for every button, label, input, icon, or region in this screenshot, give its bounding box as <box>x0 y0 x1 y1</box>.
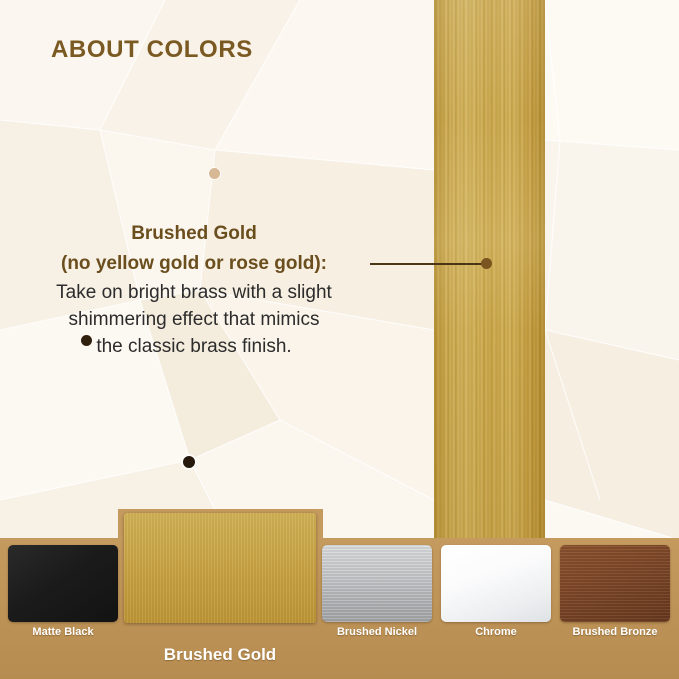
swatch-brushed-bronze[interactable] <box>560 545 670 622</box>
gold-column-sheen <box>434 0 545 538</box>
callout-heading-line-2: (no yellow gold or rose gold): <box>24 249 364 279</box>
callout-body-line-2: shimmering effect that mimics <box>24 307 364 334</box>
swatch-label-matte-black: Matte Black <box>8 626 118 638</box>
swatch-label-brushed-nickel: Brushed Nickel <box>314 626 440 638</box>
callout-heading-line-1: Brushed Gold <box>24 219 364 249</box>
about-colors-infographic: ABOUT COLORS Brushed Gold (no yellow gol… <box>0 0 679 679</box>
page-title: ABOUT COLORS <box>51 36 253 64</box>
callout-leader-dot <box>481 258 492 269</box>
callout-body-line-3: the classic brass finish. <box>24 334 364 361</box>
decorative-dot-dark-upper <box>81 335 92 346</box>
callout-leader-line <box>370 263 487 265</box>
callout-body-line-1: Take on bright brass with a slight <box>24 280 364 307</box>
swatch-brushed-nickel[interactable] <box>322 545 432 622</box>
brushed-gold-column-image <box>434 0 545 538</box>
swatch-label-brushed-bronze: Brushed Bronze <box>552 626 678 638</box>
decorative-dot-dark-lower <box>183 456 195 468</box>
callout-text-block: Brushed Gold (no yellow gold or rose gol… <box>24 219 364 361</box>
swatch-matte-black[interactable] <box>8 545 118 622</box>
swatch-brushed-gold[interactable] <box>124 513 316 623</box>
decorative-dot-light <box>209 168 220 179</box>
swatch-chrome[interactable] <box>441 545 551 622</box>
swatch-label-brushed-gold: Brushed Gold <box>124 645 316 665</box>
swatch-label-chrome: Chrome <box>441 626 551 638</box>
